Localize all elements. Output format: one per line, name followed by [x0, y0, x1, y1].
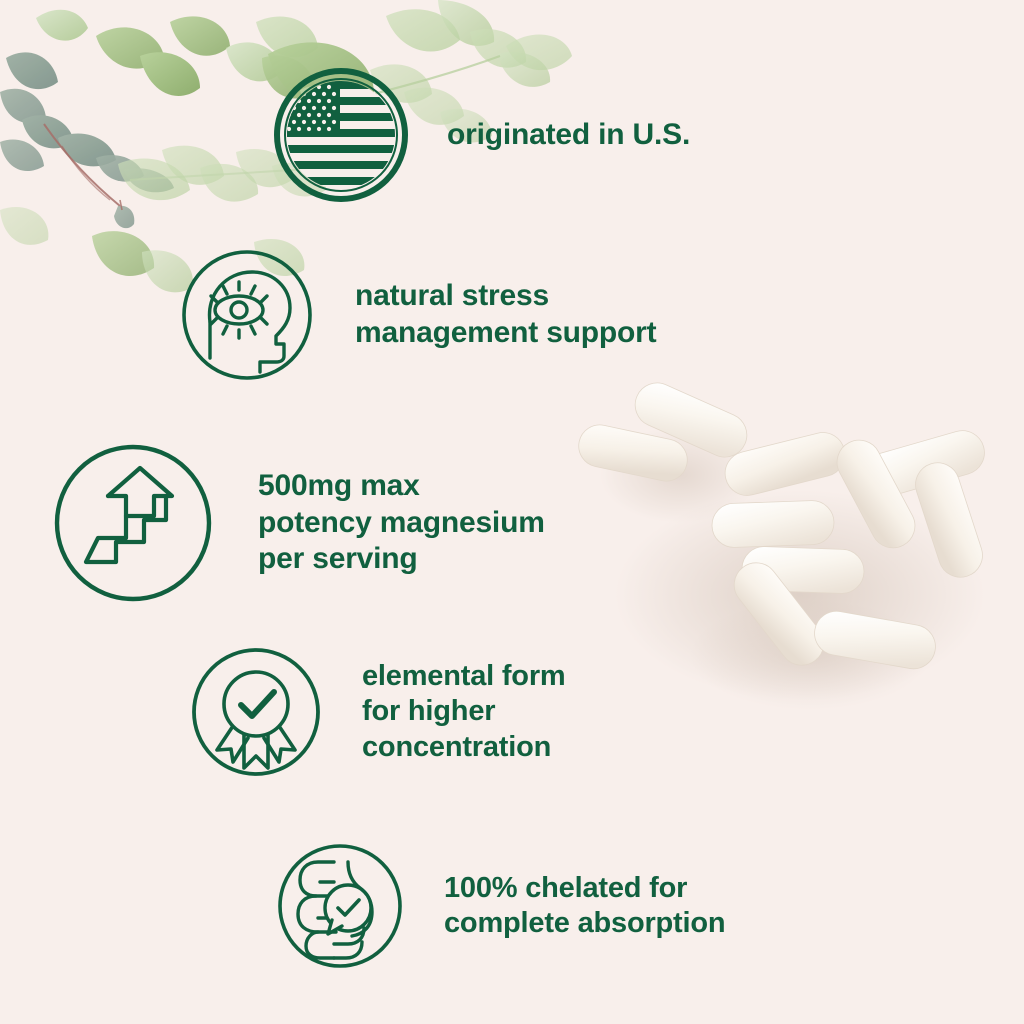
infographic-canvas: originated in U.S. [0, 0, 1024, 1024]
feature-item-potency: 500mg max potency magnesium per serving [48, 438, 545, 608]
zigzag-up-arrow-icon [48, 438, 218, 608]
feature-label-elemental: elemental form for higher concentration [362, 659, 566, 765]
feature-label-absorption: 100% chelated for complete absorption [444, 871, 725, 942]
feature-item-elemental: elemental form for higher concentration [186, 642, 566, 782]
feature-label-origin: originated in U.S. [447, 117, 690, 154]
gut-digestion-check-icon [272, 838, 408, 974]
feature-item-absorption: 100% chelated for complete absorption [272, 838, 725, 974]
award-badge-check-icon [186, 642, 326, 782]
white-capsules-photo [560, 380, 1024, 720]
feature-item-stress: natural stress management support [176, 244, 656, 386]
us-flag-circle-icon [272, 66, 410, 204]
feature-label-potency: 500mg max potency magnesium per serving [258, 468, 545, 578]
head-eye-mind-icon [176, 244, 318, 386]
feature-label-stress: natural stress management support [355, 278, 656, 351]
feature-item-origin: originated in U.S. [272, 66, 690, 204]
